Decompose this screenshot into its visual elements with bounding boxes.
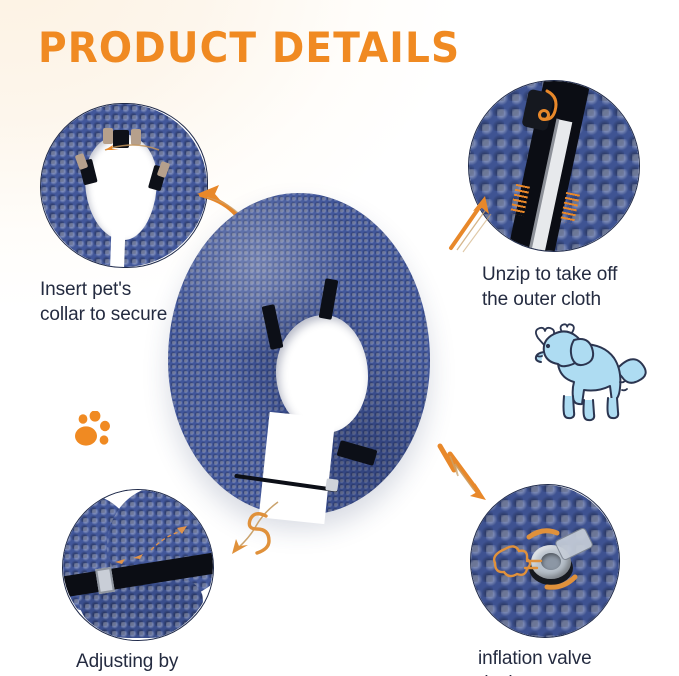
arrow-up-right-icon [443, 190, 501, 252]
product-inflatable-collar [168, 193, 430, 515]
zipper-pull-icon [527, 85, 571, 137]
collar-buckle [325, 478, 339, 492]
spiral-arrow-down-left-icon [222, 494, 288, 560]
paw-print-icon [72, 411, 116, 453]
dog-nose [537, 356, 542, 357]
collar-insert-arrow-icon [89, 138, 169, 168]
dog-body [536, 331, 646, 420]
callout-image-hook-loop [62, 489, 214, 641]
collar-slit [110, 214, 126, 267]
dog-eye [546, 344, 550, 348]
dog-illustration-icon [524, 312, 660, 430]
caption-unzip-cloth: Unzip to take off the outer cloth [482, 262, 679, 312]
dog-fur-mark-b [622, 389, 627, 390]
strap-direction-arrows-icon [111, 518, 193, 572]
callout-adjust-hook-loop[interactable]: Adjusting by hook&loop [62, 489, 214, 641]
valve-rotation-arrows-icon [523, 521, 589, 597]
product-details-infographic: PRODUCT DETAILS [0, 0, 679, 676]
page-title: PRODUCT DETAILS [38, 24, 460, 72]
zigzag-arrow-down-right-icon [428, 440, 504, 516]
caption-inflation-valve: inflation valve design [478, 646, 678, 676]
caption-adjust-hook-loop: Adjusting by hook&loop [76, 649, 276, 676]
